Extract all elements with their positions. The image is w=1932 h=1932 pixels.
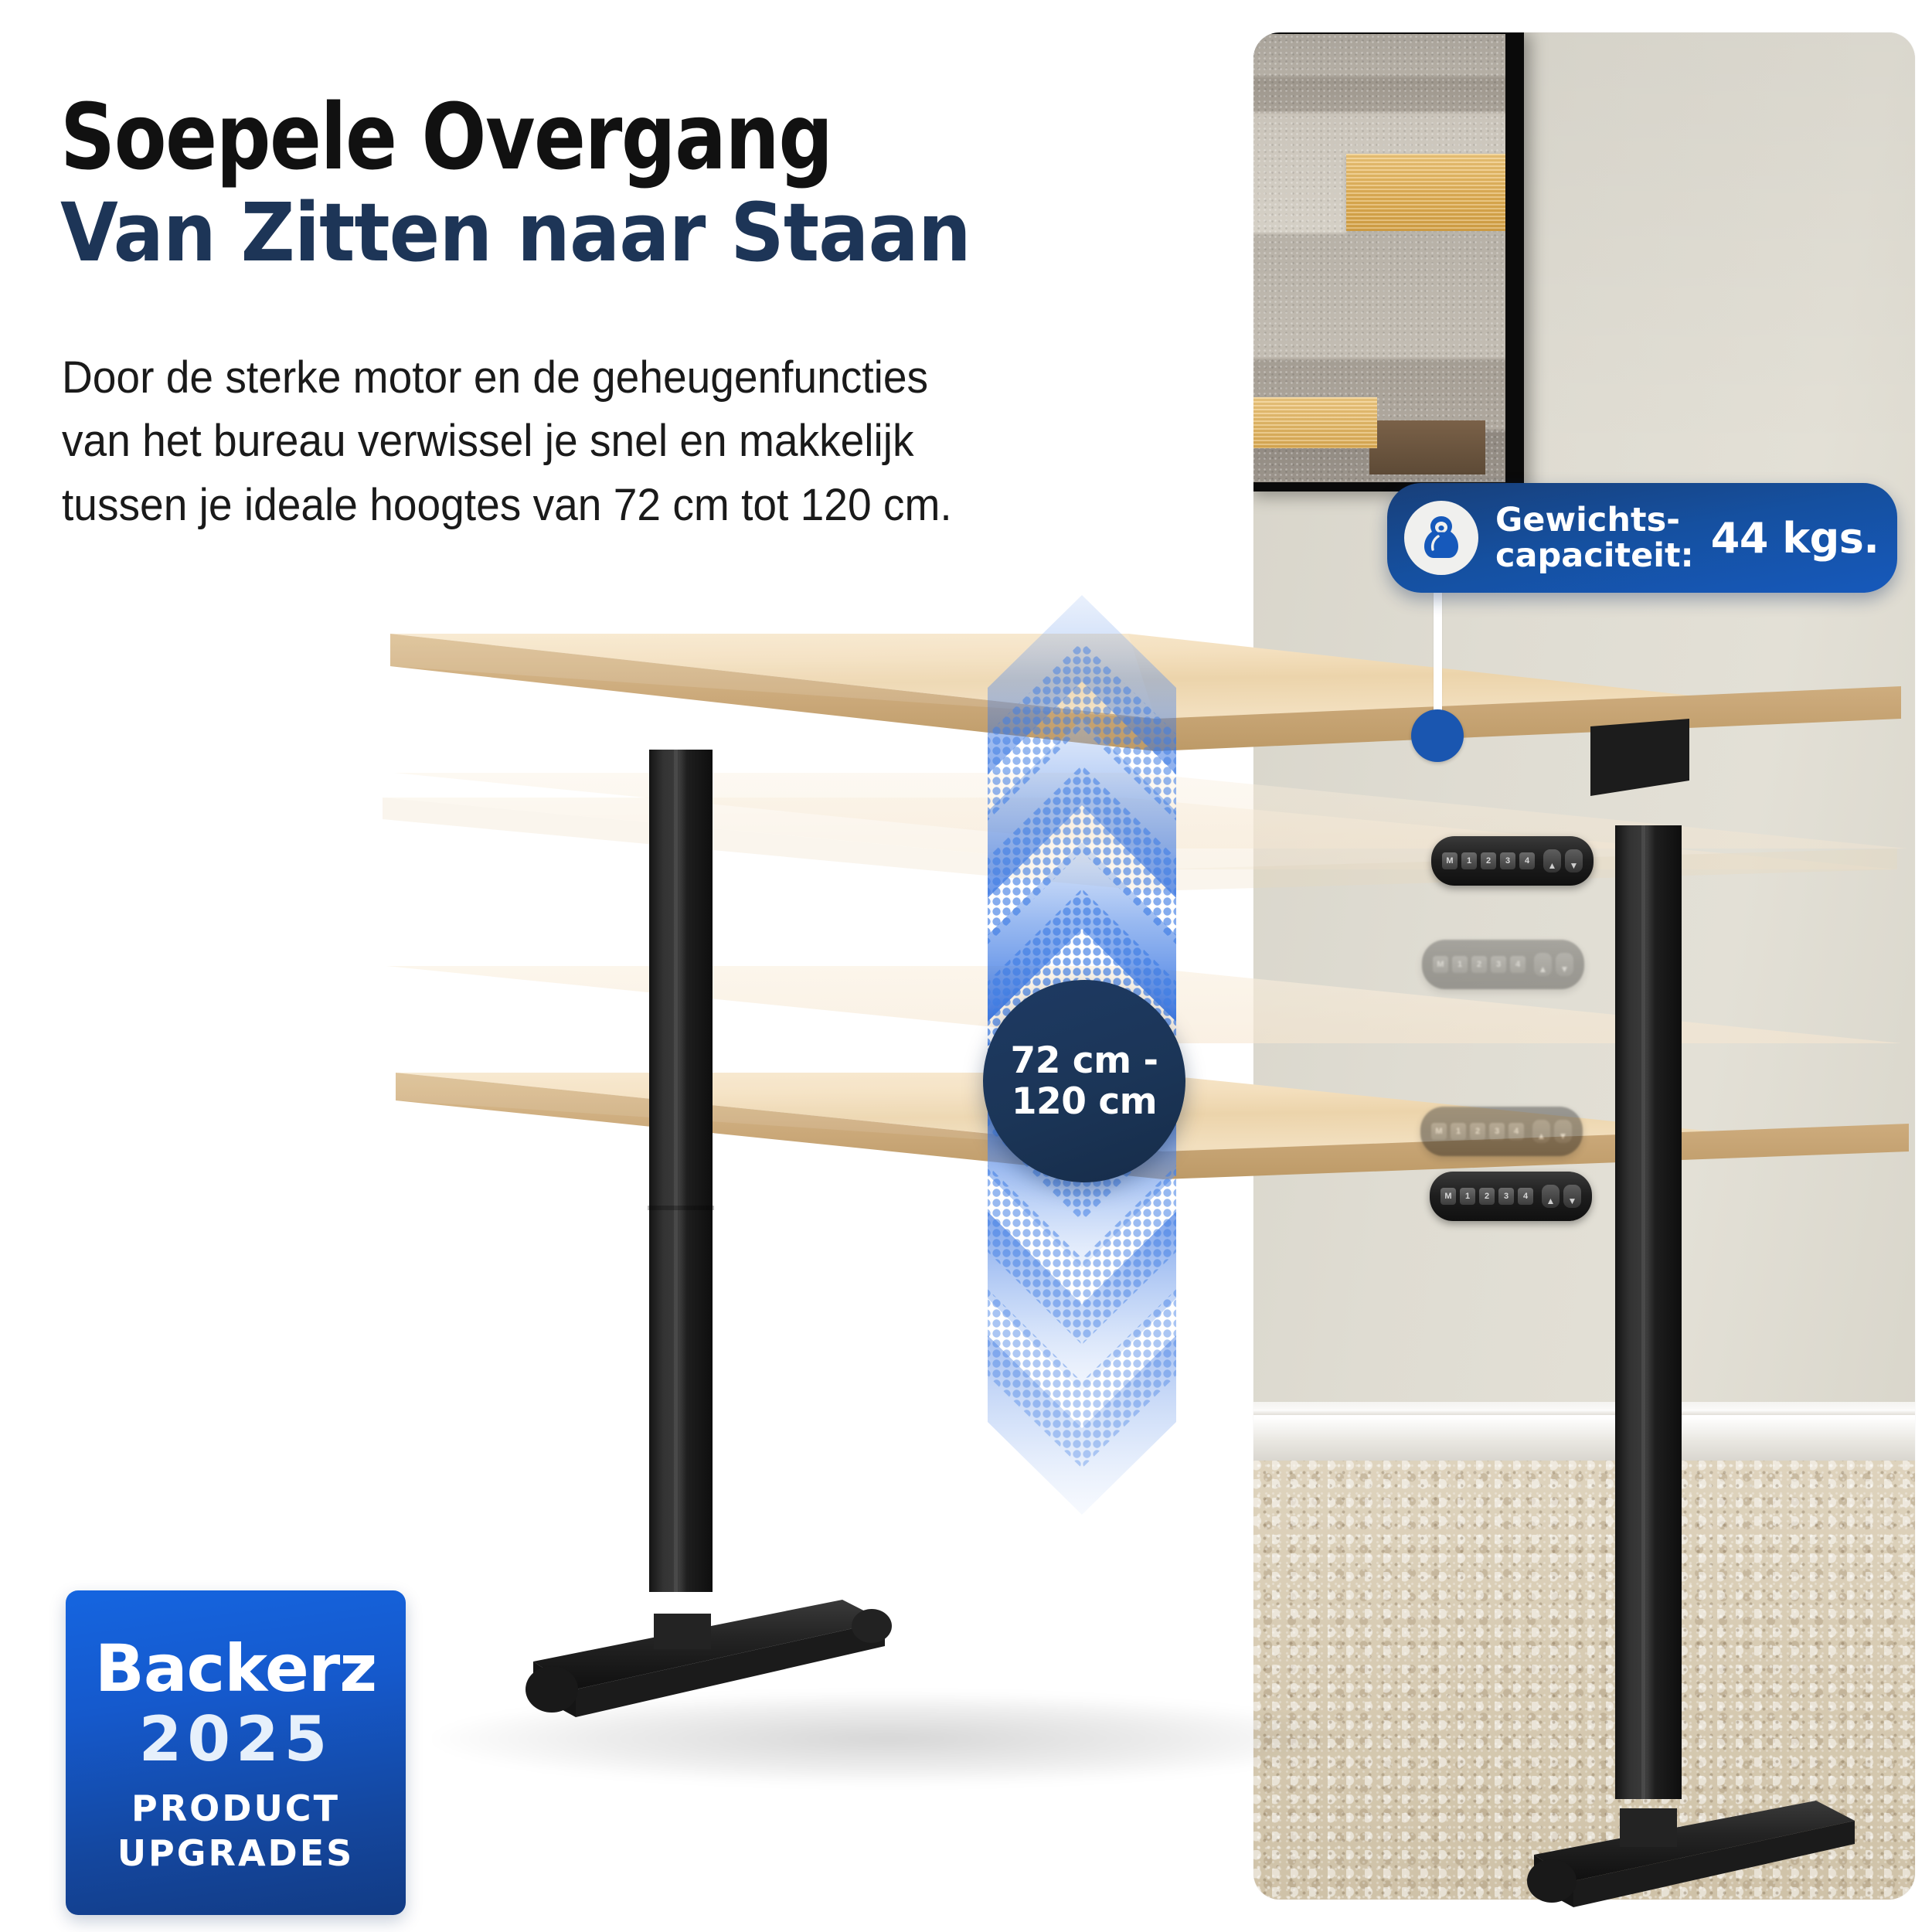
baseboard-molding <box>1253 1402 1915 1465</box>
memory-key-2-ghost: 2 <box>1471 956 1487 973</box>
down-arrow-icon-2[interactable]: ▼ <box>1563 1185 1581 1208</box>
control-panel-raised[interactable]: M 1 2 3 4 ▲ ▼ <box>1431 836 1594 886</box>
desk-leg-left <box>648 750 714 1592</box>
memory-key-4-2[interactable]: 4 <box>1518 1188 1533 1205</box>
control-panel-ghost-upper: M 1 2 3 4 ▲ ▼ <box>1422 940 1584 989</box>
callout-anchor-dot <box>1411 709 1464 762</box>
down-arrow-ghost-icon: ▼ <box>1556 953 1573 976</box>
framed-artwork <box>1253 32 1524 492</box>
artwork-canvas <box>1253 34 1505 482</box>
carpet-floor <box>1253 1461 1915 1900</box>
memory-key-m-ghost: M <box>1433 956 1448 973</box>
artwork-gold-block-1 <box>1346 154 1505 231</box>
memory-key-3[interactable]: 3 <box>1500 852 1515 869</box>
award-badge: Backerz 2025 PRODUCT UPGRADES <box>66 1590 406 1915</box>
award-line-product: PRODUCT <box>131 1787 340 1829</box>
memory-key-m[interactable]: M <box>1442 852 1458 869</box>
memory-key-1-ghost: 1 <box>1452 956 1468 973</box>
down-arrow-icon[interactable]: ▼ <box>1565 849 1583 872</box>
memory-key-4-ghost: 4 <box>1510 956 1526 973</box>
page-title: Soepele Overgang <box>60 91 1110 182</box>
weight-capacity-value: 44 kgs. <box>1711 514 1879 563</box>
weight-capacity-label: Gewichts- capaciteit: <box>1495 502 1694 574</box>
memory-key-4[interactable]: 4 <box>1519 852 1535 869</box>
memory-key-3-ghost: 3 <box>1491 956 1506 973</box>
weight-capacity-label-line1: Gewichts- <box>1495 501 1680 539</box>
memory-key-2[interactable]: 2 <box>1481 852 1496 869</box>
artwork-gold-block-2 <box>1253 397 1377 448</box>
memory-key-m-2[interactable]: M <box>1440 1188 1456 1205</box>
height-range-line2: 120 cm <box>1012 1081 1157 1122</box>
control-panel-lowered[interactable]: M 1 2 3 4 ▲ ▼ <box>1430 1172 1592 1221</box>
award-year: 2025 <box>139 1706 333 1774</box>
marketing-graphic: M 1 2 3 4 ▲ ▼ M 1 2 3 4 ▲ ▼ M 1 2 3 4 ▲ <box>0 0 1932 1932</box>
award-brand: Backerz <box>95 1636 376 1701</box>
body-copy: Door de sterke motor en de geheugenfunct… <box>62 346 1090 537</box>
memory-key-3-2[interactable]: 3 <box>1498 1188 1514 1205</box>
body-copy-line2: van het bureau verwissel je snel en makk… <box>62 410 1090 473</box>
artwork-brown-block <box>1369 420 1485 474</box>
weight-capacity-badge: Gewichts- capaciteit: 44 kgs. <box>1387 483 1897 593</box>
memory-key-1-2[interactable]: 1 <box>1460 1188 1475 1205</box>
room-photo-panel <box>1253 32 1915 1900</box>
height-range-line1: 72 cm - <box>1011 1040 1158 1081</box>
up-arrow-icon[interactable]: ▲ <box>1543 849 1561 872</box>
award-line-upgrades: UPGRADES <box>117 1832 355 1874</box>
headline-block: Soepele Overgang Van Zitten naar Staan <box>60 91 1189 275</box>
up-arrow-ghost-icon: ▲ <box>1534 953 1552 976</box>
height-range-badge: 72 cm - 120 cm <box>983 980 1185 1182</box>
weight-capacity-label-line2: capaciteit: <box>1495 536 1694 575</box>
memory-key-1[interactable]: 1 <box>1461 852 1477 869</box>
control-panel-ghost-lower: M 1 2 3 4 ▲ ▼ <box>1420 1107 1583 1156</box>
page-subtitle: Van Zitten naar Staan <box>60 190 1110 275</box>
up-arrow-icon-2[interactable]: ▲ <box>1542 1185 1560 1208</box>
desk-floor-shadow <box>433 1692 1345 1785</box>
callout-leader-line <box>1434 587 1442 725</box>
body-copy-line1: Door de sterke motor en de geheugenfunct… <box>62 346 1090 410</box>
memory-key-2-2[interactable]: 2 <box>1479 1188 1495 1205</box>
weight-kettlebell-icon <box>1404 501 1478 575</box>
body-copy-line3: tussen je ideale hoogtes van 72 cm tot 1… <box>62 474 1090 537</box>
